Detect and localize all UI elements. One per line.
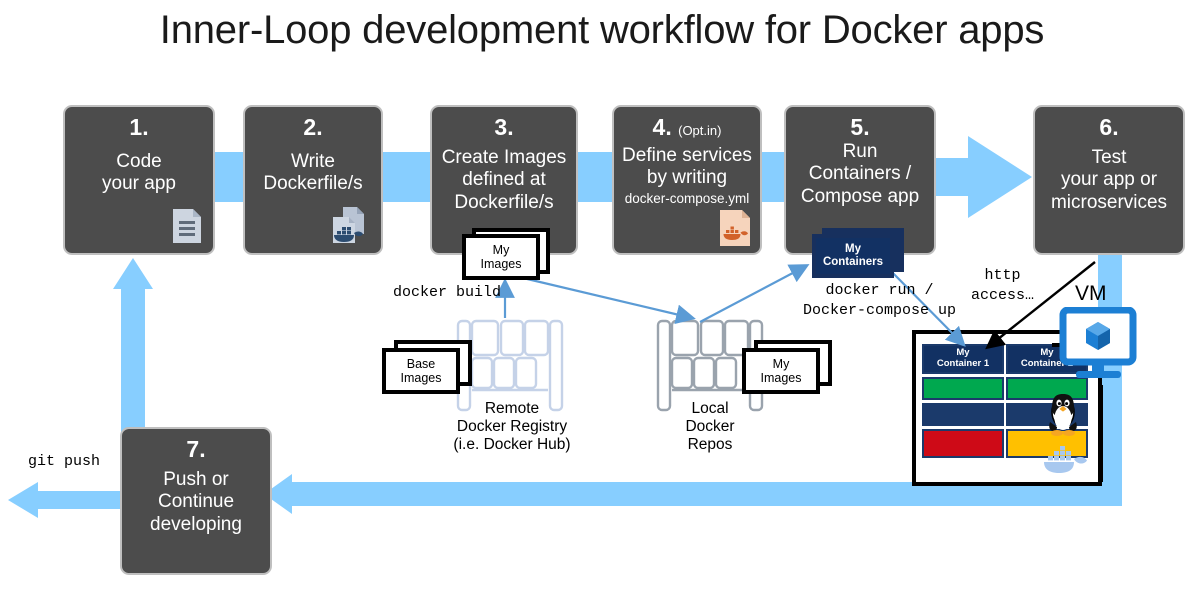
vm-label: VM — [1075, 282, 1107, 306]
step-box-6[interactable]: 6. Test your app or microservices — [1033, 105, 1185, 255]
step-box-4[interactable]: 4. (Opt.in) Define services by writing d… — [612, 105, 762, 255]
loop-path-left-vertical — [121, 289, 145, 435]
artifact-label-line: Images — [761, 371, 802, 385]
label-git-push: git push — [28, 452, 100, 472]
caption-line: Docker Registry — [392, 418, 632, 436]
stack-front: My Containers — [812, 234, 894, 278]
artifact-my-containers: My Containers — [812, 228, 908, 280]
arrow-localrepos-to-mycontainers — [700, 266, 806, 322]
step-line: by writing — [614, 167, 760, 189]
remote-registry-caption: Remote Docker Registry (i.e. Docker Hub) — [392, 400, 632, 454]
arrow-step5-to-step6 — [935, 136, 1032, 218]
step-number: 3. — [432, 115, 576, 141]
label-http-access: http access… — [971, 266, 1034, 305]
label-docker-run: docker run / Docker-compose up — [803, 281, 956, 320]
artifact-label-line: Images — [481, 257, 522, 271]
docker-whale-icon — [1038, 440, 1088, 476]
step-number-value: 4. — [653, 114, 672, 140]
step-number: 6. — [1035, 115, 1183, 141]
label-docker-build: docker build — [393, 283, 501, 303]
step-line: Run — [786, 141, 934, 163]
diagram-canvas: Inner-Loop development workflow for Dock… — [0, 0, 1204, 591]
page-title: Inner-Loop development workflow for Dock… — [0, 8, 1204, 53]
git-push-line — [38, 491, 128, 509]
caption-line: Docker — [650, 418, 770, 436]
step-line: developing — [122, 514, 270, 536]
caption-line: Remote — [392, 400, 632, 418]
step-line: Define services — [614, 145, 760, 167]
document-icon — [171, 207, 203, 245]
vm-monitor-icon — [1058, 307, 1144, 385]
artifact-label-line: Images — [401, 371, 442, 385]
caption-line: Repos — [650, 436, 770, 454]
step-number: 4. (Opt.in) — [614, 115, 760, 141]
step-box-2[interactable]: 2. Write Dockerfile/s — [243, 105, 383, 255]
step-number: 7. — [122, 437, 270, 463]
vm-container-1-header: My Container 1 — [922, 344, 1004, 374]
connector-3-4 — [575, 152, 615, 202]
artifact-label-line: Base — [407, 357, 436, 371]
step-line: Dockerfile/s — [432, 192, 576, 214]
step-line: Continue — [122, 491, 270, 513]
arrow-myimages-to-localrepos — [523, 278, 692, 318]
step-line: microservices — [1035, 192, 1183, 214]
step-number: 2. — [245, 115, 381, 141]
artifact-label-line: My — [493, 243, 510, 257]
artifact-label-line: My — [845, 243, 861, 256]
step-line: Write — [245, 151, 381, 173]
connector-2-3 — [380, 152, 432, 202]
step-number: 1. — [65, 115, 213, 141]
vm-container-1-bar-navy — [922, 403, 1004, 426]
step-box-1[interactable]: 1. Code your app — [63, 105, 215, 255]
step-line: Create Images — [432, 147, 576, 169]
step-line: Test — [1035, 147, 1183, 169]
container-title-line: Container 1 — [937, 359, 989, 370]
stack-front: My Images — [462, 234, 540, 280]
stack-front: My Images — [742, 348, 820, 394]
git-push-arrowhead — [8, 482, 38, 518]
step-box-7[interactable]: 7. Push or Continue developing — [120, 427, 272, 575]
artifact-my-images-step3: My Images — [462, 228, 550, 280]
artifact-label-line: My — [773, 357, 790, 371]
arrow-into-step1 — [113, 258, 153, 289]
step-optional-tag: (Opt.in) — [678, 123, 721, 138]
artifact-my-images-local: My Images — [742, 340, 834, 394]
step-subtext: docker-compose.yml — [614, 191, 760, 207]
step-line: Containers / — [786, 163, 934, 185]
vm-container-1-bar-green — [922, 377, 1004, 400]
linux-penguin-icon — [1044, 392, 1082, 438]
step-line: Push or — [122, 469, 270, 491]
caption-line: Local — [650, 400, 770, 418]
vm-container-1-bar-red — [922, 429, 1004, 458]
dockerfile-icon — [329, 205, 371, 247]
step-line: your app — [65, 173, 213, 195]
caption-line: (i.e. Docker Hub) — [392, 436, 632, 454]
compose-file-icon — [718, 208, 752, 248]
step-line: Dockerfile/s — [245, 173, 381, 195]
artifact-label-line: Containers — [823, 256, 883, 269]
step-line: Code — [65, 151, 213, 173]
artifact-base-images: Base Images — [382, 340, 474, 394]
step-line: your app or — [1035, 169, 1183, 191]
step-number: 5. — [786, 115, 934, 141]
step-line: Compose app — [786, 186, 934, 208]
step-line: defined at — [432, 169, 576, 191]
local-repos-caption: Local Docker Repos — [650, 400, 770, 454]
stack-front: Base Images — [382, 348, 460, 394]
